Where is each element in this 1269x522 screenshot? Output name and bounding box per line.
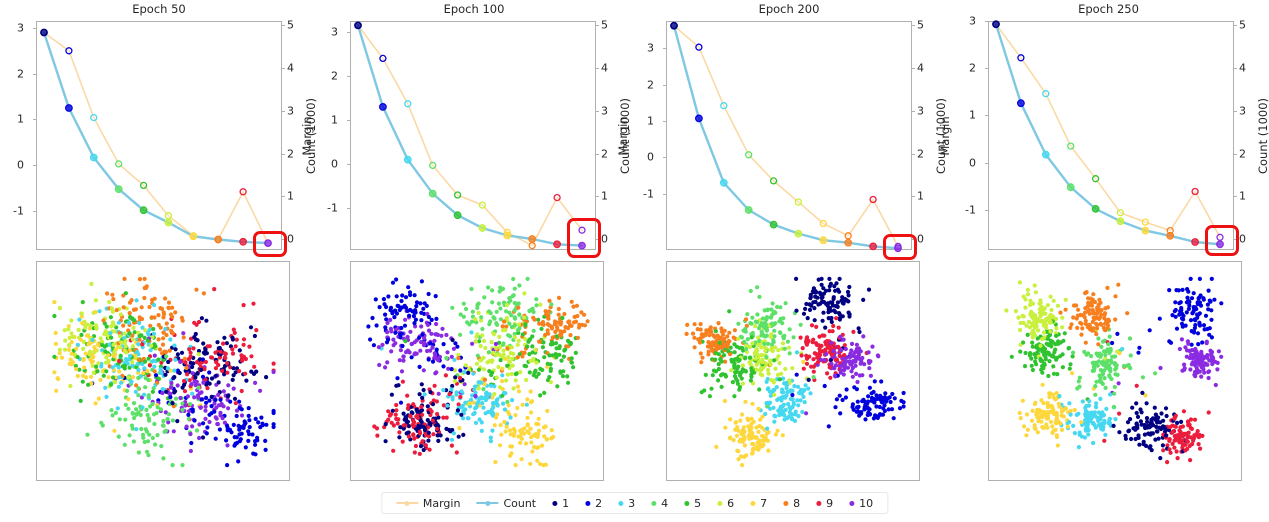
scatter-point [1093,393,1097,397]
scatter-point [831,324,835,328]
scatter-point [1212,298,1216,302]
legend-item-class-10[interactable]: 10 [841,498,881,509]
scatter-point [527,352,531,356]
scatter-point [153,442,157,446]
legend-item-count[interactable]: Count [468,498,544,509]
scatter-point [96,343,100,347]
scatter-point [509,415,513,419]
scatter-point [151,327,155,331]
scatter-point [699,360,703,364]
legend-item-class-2[interactable]: 2 [577,498,610,509]
scatter-point [873,413,877,417]
scatter-point [1046,405,1050,409]
scatter-point [1108,335,1112,339]
scatter-point [749,289,753,293]
scatter-point [481,356,485,360]
scatter-point [183,403,187,407]
margin-data-point [795,199,801,205]
scatter-point [189,449,193,453]
scatter-point [368,337,372,341]
scatter-point [814,352,818,356]
scatter-point [175,419,179,423]
scatter-point [1106,365,1110,369]
scatter-point [413,293,417,297]
count-data-point [1117,218,1124,225]
scatter-point [151,390,155,394]
scatter-point [562,348,566,352]
scatter-point [516,343,520,347]
scatter-point [165,321,169,325]
scatter-point [761,434,765,438]
scatter-point [834,358,838,362]
scatter-point [1051,353,1055,357]
scatter-point [1199,375,1203,379]
scatter-point [231,366,235,370]
scatter-point [799,323,803,327]
count-data-point [140,207,147,214]
scatter-point [233,435,237,439]
scatter-point [1091,320,1095,324]
scatter-point [143,277,147,281]
scatter-point [109,383,113,387]
scatter-point [1047,395,1051,399]
scatter-point [414,310,418,314]
scatter-point [827,424,831,428]
scatter-point [1141,375,1145,379]
scatter-point [513,308,517,312]
scatter-point [1107,420,1111,424]
scatter-point [1106,342,1110,346]
scatter-point [744,347,748,351]
scatter-point [1031,316,1035,320]
scatter-point [137,386,141,390]
scatter-point [1035,351,1039,355]
scatter-point [778,319,782,323]
scatter-point [207,420,211,424]
scatter-point [1142,440,1146,444]
scatter-point [804,383,808,387]
scatter-point [707,350,711,354]
scatter-point [187,347,191,351]
scatter-point [1103,376,1107,380]
scatter-point [370,316,374,320]
scatter-point [471,310,475,314]
scatter-point [161,336,165,340]
scatter-point [508,428,512,432]
scatter-point [765,432,769,436]
scatter-point [118,345,122,349]
count-data-point [795,230,802,237]
scatter-point [201,381,205,385]
scatter-point [811,357,815,361]
scatter-point [394,408,398,412]
scatter-point [867,350,871,354]
count-data-point [380,104,387,111]
scatter-point [825,339,829,343]
scatter-point [231,378,235,382]
scatter-point [378,305,382,309]
scatter-point [523,323,527,327]
scatter-point [195,380,199,384]
scatter-point [890,407,894,411]
scatter-point [1153,406,1157,410]
scatter-point [528,462,532,466]
scatter-point [161,423,165,427]
scatter-point [221,416,225,420]
scatter-point [168,349,172,353]
scatter-point [453,341,457,345]
scatter-point [143,440,147,444]
scatter-point [392,423,396,427]
scatter-point [54,331,58,335]
scatter-point [196,396,200,400]
scatter-point [429,332,433,336]
scatter-point [94,401,98,405]
scatter-point [851,375,855,379]
scatter-point [709,328,713,332]
scatter-point [135,413,139,417]
scatter-point [766,368,770,372]
scatter-point [400,332,404,336]
scatter-point [500,373,504,377]
scatter-point [742,425,746,429]
scatter-point [545,437,549,441]
scatter-point [867,288,871,292]
legend-item-class-5[interactable]: 5 [676,498,709,509]
scatter-point [1070,371,1074,375]
scatter-point [579,310,583,314]
scatter-point [403,318,407,322]
scatter-point [755,368,759,372]
scatter-point [247,414,251,418]
scatter-point [762,342,766,346]
scatter-point [1188,367,1192,371]
scatter-point [407,434,411,438]
scatter-point [456,408,460,412]
scatter-point [228,400,232,404]
line-chart-epoch-50: Epoch 50 3210-1543210MarginCount (1000) [0,0,318,252]
scatter-point [178,360,182,364]
scatter-point [403,339,407,343]
scatter-point [136,342,140,346]
margin-data-point [696,44,702,50]
scatter-point [782,413,786,417]
scatter-point [214,360,218,364]
scatter-point [502,349,506,353]
scatter-point [1125,311,1129,315]
scatter-panel-epoch-200 [666,261,920,481]
scatter-point [123,331,127,335]
scatter-point [1110,355,1114,359]
scatter-point [889,400,893,404]
scatter-point [494,346,498,350]
scatter-point [1127,429,1131,433]
scatter-point [164,350,168,354]
scatter-point [1026,333,1030,337]
count-series-line [358,25,582,245]
scatter-point [1196,301,1200,305]
scatter-point [377,345,381,349]
scatter-point [828,365,832,369]
scatter-point [1045,426,1049,430]
scatter-point [399,348,403,352]
count-data-point [696,115,703,122]
scatter-point [541,340,545,344]
scatter-point [141,433,145,437]
scatter-point [534,375,538,379]
scatter-point [722,353,726,357]
scatter-point [1049,313,1053,317]
scatter-point [828,284,832,288]
scatter-point [540,368,544,372]
scatter-point [485,360,489,364]
scatter-point [735,367,739,371]
scatter-point [513,287,517,291]
scatter-point [522,315,526,319]
scatter-point [574,320,578,324]
scatter-point [742,340,746,344]
scatter-point [1046,337,1050,341]
scatter-point [138,334,142,338]
scatter-point [517,389,521,393]
scatter-point [731,380,735,384]
scatter-point [174,397,178,401]
scatter-point [547,375,551,379]
scatter-point [180,351,184,355]
scatter-point [135,298,139,302]
scatter-point [1148,328,1152,332]
scatter-point [1103,353,1107,357]
scatter-point [223,356,227,360]
scatter-point [1083,306,1087,310]
legend-item-class-3[interactable]: 3 [610,498,643,509]
scatter-point [846,299,850,303]
scatter-point [762,333,766,337]
scatter-point [406,406,410,410]
scatter-point [124,339,128,343]
scatter-point [1004,308,1008,312]
scatter-point [805,357,809,361]
scatter-point [225,341,229,345]
scatter-point [893,396,897,400]
count-data-point [554,241,561,248]
scatter-point [219,350,223,354]
count-data-point [529,236,536,243]
scatter-point [767,372,771,376]
scatter-point [395,294,399,298]
scatter-point [441,388,445,392]
scatter-point [533,434,537,438]
scatter-point [755,312,759,316]
scatter-point [1174,438,1178,442]
scatter-point [508,454,512,458]
scatter-point [543,333,547,337]
scatter-point [414,444,418,448]
scatter-point [540,444,544,448]
scatter-point [498,443,502,447]
scatter-point [418,431,422,435]
legend-item-class-9[interactable]: 9 [808,498,841,509]
scatter-point [90,353,94,357]
scatter-point [796,385,800,389]
scatter-point [125,389,129,393]
scatter-point [537,417,541,421]
legend-item-margin[interactable]: Margin [388,498,469,509]
scatter-point [1049,295,1053,299]
scatter-point [504,429,508,433]
scatter-point [1185,310,1189,314]
scatter-point [261,423,265,427]
scatter-point [74,367,78,371]
scatter-point [395,311,399,315]
scatter-point [58,306,62,310]
scatter-point [776,348,780,352]
scatter-point [708,394,712,398]
scatter-point [139,413,143,417]
scatter-point [71,360,75,364]
scatter-point [834,316,838,320]
scatter-point [136,393,140,397]
legend-line-swatch [396,502,418,504]
scatter-point [217,380,221,384]
scatter-point [382,297,386,301]
scatter-point [237,369,241,373]
scatter-point [483,382,487,386]
scatter-point [744,317,748,321]
scatter-point [1187,307,1191,311]
scatter-point [513,335,517,339]
scatter-point [256,420,260,424]
scatter-point [1021,340,1025,344]
scatter-point [140,405,144,409]
scatter-point [855,380,859,384]
scatter-point [433,332,437,336]
scatter-point [1027,320,1031,324]
scatter-point [255,436,259,440]
scatter-point [432,339,436,343]
scatter-point [790,393,794,397]
scatter-point [756,407,760,411]
legend-item-class-6[interactable]: 6 [709,498,742,509]
scatter-point [1090,329,1094,333]
legend-item-class-4[interactable]: 4 [643,498,676,509]
scatter-point [1028,325,1032,329]
scatter-point [180,463,184,467]
count-data-point [993,21,1000,28]
scatter-point [218,411,222,415]
count-data-point [1142,227,1149,234]
scatter-point [1099,313,1103,317]
scatter-point [486,285,490,289]
scatter-point [555,384,559,388]
scatter-point [440,327,444,331]
scatter-point [98,309,102,313]
scatter-point [134,390,138,394]
scatter-point [457,426,461,430]
scatter-point [1026,288,1030,292]
scatter-point [420,279,424,283]
scatter-point [549,367,553,371]
scatter-point [74,347,78,351]
scatter-point [140,342,144,346]
scatter-point [768,401,772,405]
scatter-point [550,325,554,329]
scatter-point [439,334,443,338]
scatter-point [1158,366,1162,370]
scatter-point [483,378,487,382]
scatter-point [1025,412,1029,416]
scatter-point [1186,342,1190,346]
legend-item-class-1[interactable]: 1 [544,498,577,509]
legend-item-class-7[interactable]: 7 [742,498,775,509]
scatter-points-layer [37,262,290,481]
scatter-point [408,414,412,418]
scatter-point [755,349,759,353]
scatter-point [1195,358,1199,362]
scatter-point [1217,349,1221,353]
scatter-point [706,340,710,344]
scatter-point [566,381,570,385]
scatter-point [1105,286,1109,290]
line-series-layer [948,0,1269,252]
scatter-point [481,387,485,391]
scatter-point [812,365,816,369]
scatter-point [146,357,150,361]
scatter-point [146,332,150,336]
scatter-point [458,376,462,380]
scatter-point [1023,364,1027,368]
scatter-point [846,290,850,294]
scatter-point [783,417,787,421]
scatter-point [1030,364,1034,368]
scatter-point [415,413,419,417]
scatter-point [123,364,127,368]
scatter-point [1045,342,1049,346]
scatter-point [760,373,764,377]
scatter-point [394,277,398,281]
scatter-point [876,354,880,358]
legend-item-label: 8 [793,498,800,509]
scatter-point [1215,367,1219,371]
scatter-point [1086,351,1090,355]
scatter-point [180,408,184,412]
scatter-point [513,429,517,433]
scatter-point [218,427,222,431]
scatter-point [196,386,200,390]
margin-data-point [579,227,585,233]
legend-item-class-8[interactable]: 8 [775,498,808,509]
scatter-point [138,277,142,281]
scatter-point [232,373,236,377]
scatter-point [842,353,846,357]
scatter-point [386,418,390,422]
count-data-point [745,207,752,214]
scatter-point [490,429,494,433]
margin-data-point [845,233,851,239]
scatter-point [802,388,806,392]
scatter-point [1099,322,1103,326]
scatter-point [1023,306,1027,310]
scatter-point [1036,328,1040,332]
scatter-point [853,359,857,363]
scatter-point [401,359,405,363]
scatter-point [63,348,67,352]
scatter-point [474,421,478,425]
scatter-point [144,427,148,431]
scatter-point [831,303,835,307]
scatter-point [772,340,776,344]
scatter-point [850,342,854,346]
